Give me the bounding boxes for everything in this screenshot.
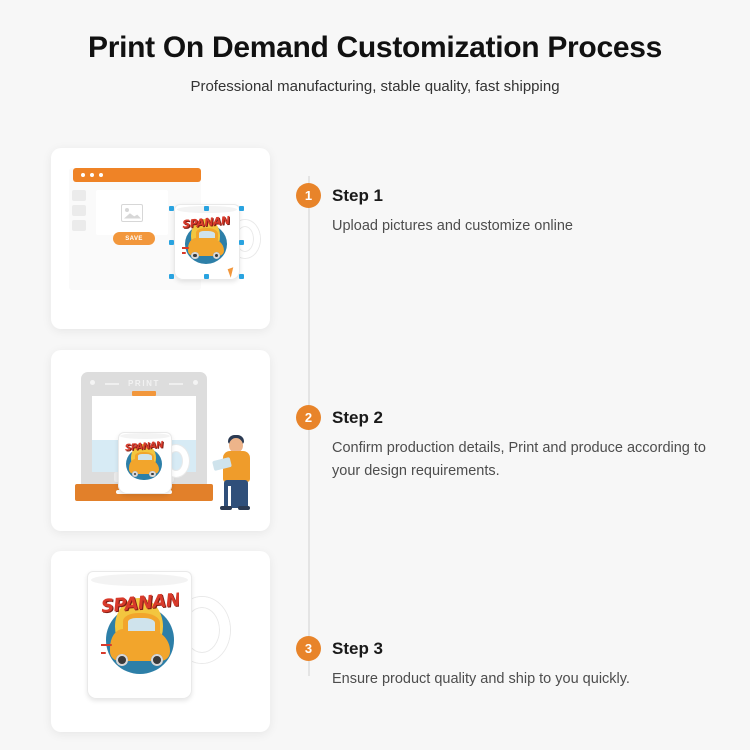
step-description: Upload pictures and customize online <box>332 215 732 238</box>
step-item-1: 1 Step 1 Upload pictures and customize o… <box>296 183 736 238</box>
artwork-speed-line <box>101 652 106 654</box>
artwork-car-window <box>199 231 216 238</box>
artwork-car-window <box>138 454 152 460</box>
selection-handle[interactable] <box>169 206 174 211</box>
page-header: Print On Demand Customization Process Pr… <box>0 0 750 95</box>
selection-handle[interactable] <box>239 206 244 211</box>
operator-shoe <box>238 506 250 510</box>
illustration-card-step-3: SPANAN <box>51 551 270 732</box>
printing-machine: PRINT SPANAN <box>81 372 207 512</box>
step-badge: 3 <box>296 636 321 661</box>
artwork-car-wheel <box>116 654 128 666</box>
artwork-text: SPANAN <box>101 589 179 617</box>
selection-handle[interactable] <box>239 240 244 245</box>
artwork-speed-line <box>101 644 112 646</box>
artwork-car-wheel <box>191 252 198 259</box>
step-title: Step 2 <box>332 405 736 430</box>
mug-rim <box>91 574 188 587</box>
step-item-2: 2 Step 2 Confirm production details, Pri… <box>296 405 736 483</box>
step-badge: 2 <box>296 405 321 430</box>
browser-title-bar <box>73 168 201 182</box>
save-button[interactable]: SAVE <box>113 232 155 245</box>
editor-sidebar-block <box>72 220 86 231</box>
mug-artwork: SPANAN <box>101 589 179 681</box>
artwork-car-wheel <box>151 654 163 666</box>
page-title: Print On Demand Customization Process <box>0 28 750 68</box>
printer-label: PRINT <box>81 379 207 388</box>
step-item-3: 3 Step 3 Ensure product quality and ship… <box>296 636 736 691</box>
step-title: Step 1 <box>332 183 736 208</box>
illustration-card-step-1: SAVE SPANAN <box>51 148 270 329</box>
printer-window: SPANAN <box>92 396 196 472</box>
step-title: Step 3 <box>332 636 736 661</box>
selection-handle[interactable] <box>204 206 209 211</box>
artwork-car-wheel <box>132 471 138 477</box>
artwork-car <box>129 459 159 474</box>
artwork-car <box>188 238 224 256</box>
window-dot-icon <box>90 173 94 177</box>
window-dot-icon <box>81 173 85 177</box>
operator-leg-gap <box>228 486 231 506</box>
selection-handle[interactable] <box>169 274 174 279</box>
artwork-text: SPANAN <box>124 440 164 453</box>
image-placeholder-icon <box>121 204 143 222</box>
operator-figure <box>217 432 257 510</box>
printer-dash <box>105 383 119 385</box>
editor-canvas <box>96 190 168 235</box>
cursor-arrow-icon <box>228 267 237 278</box>
editor-sidebar-block <box>72 205 86 216</box>
artwork-car-window <box>128 618 155 631</box>
artwork-car <box>110 629 169 660</box>
finished-mug: SPANAN <box>87 571 192 699</box>
operator-shoe <box>220 506 232 510</box>
page-subtitle: Professional manufacturing, stable quali… <box>0 78 750 95</box>
step-description: Ensure product quality and ship to you q… <box>332 668 732 691</box>
step-badge: 1 <box>296 183 321 208</box>
selection-handle[interactable] <box>204 274 209 279</box>
printer-knob-icon <box>90 380 95 385</box>
mug-artwork: SPANAN <box>124 440 164 484</box>
selection-handle[interactable] <box>169 240 174 245</box>
printer-dash <box>169 383 183 385</box>
step-description: Confirm production details, Print and pr… <box>332 437 732 483</box>
page-root: Print On Demand Customization Process Pr… <box>0 0 750 750</box>
artwork-car-wheel <box>149 471 155 477</box>
printer-knob-icon <box>193 380 198 385</box>
printer-frame: PRINT SPANAN <box>81 372 207 490</box>
artwork-speed-line <box>182 252 186 254</box>
mug-in-printer: SPANAN <box>118 432 172 494</box>
illustration-card-step-2: PRINT SPANAN <box>51 350 270 531</box>
artwork-car-wheel <box>213 252 220 259</box>
editor-sidebar-block <box>72 190 86 201</box>
window-dot-icon <box>99 173 103 177</box>
selection-handle[interactable] <box>239 274 244 279</box>
